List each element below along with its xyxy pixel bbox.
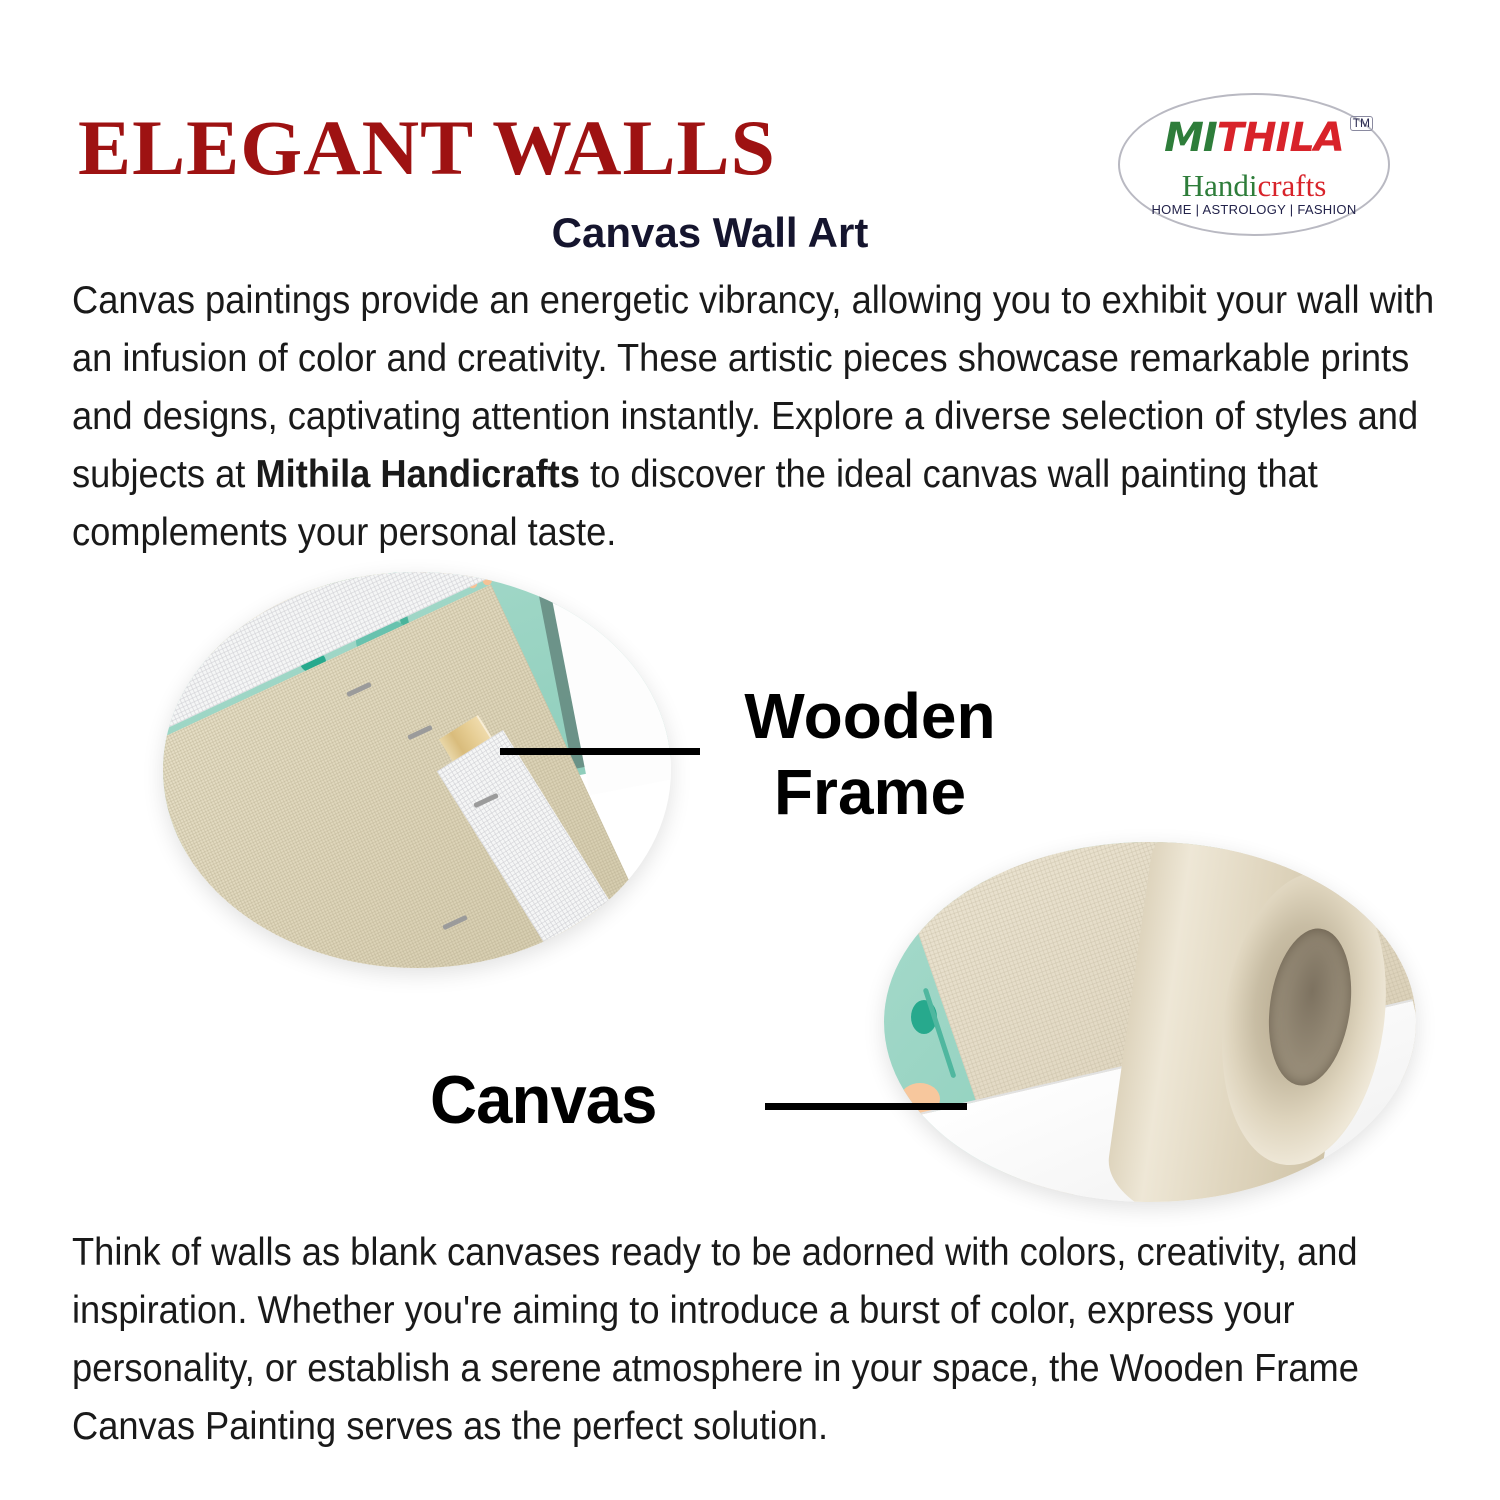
intro-paragraph: Canvas paintings provide an energetic vi…	[72, 272, 1439, 562]
canvas-label: Canvas	[430, 1060, 756, 1140]
canvas-leader-line	[765, 1103, 967, 1110]
infographic-page: ELEGANT WALLS MITHILA TM Handicrafts HOM…	[0, 0, 1500, 1500]
wooden-frame-label: Wooden Frame	[700, 678, 1040, 830]
closing-paragraph: Think of walls as blank canvases ready t…	[72, 1224, 1439, 1456]
canvas-roll-photo	[884, 842, 1416, 1202]
logo-word-thila: THILA	[1217, 115, 1344, 161]
wooden-frame-photo	[163, 572, 671, 968]
section-subheading: Canvas Wall Art	[0, 208, 1420, 258]
trademark-icon: TM	[1350, 116, 1373, 131]
page-title: ELEGANT WALLS	[78, 108, 776, 188]
logo-subtitle-handi: Handi	[1182, 168, 1258, 203]
wooden-frame-label-line1: Wooden	[700, 678, 1040, 754]
logo-word-mi: MI	[1164, 115, 1217, 161]
logo-subtitle-crafts: crafts	[1257, 168, 1326, 203]
wooden-frame-label-line2: Frame	[700, 754, 1040, 830]
logo-subtitle: Handicrafts	[1118, 169, 1390, 202]
wooden-frame-leader-line	[500, 748, 700, 755]
brand-mention: Mithila Handicrafts	[255, 453, 579, 496]
